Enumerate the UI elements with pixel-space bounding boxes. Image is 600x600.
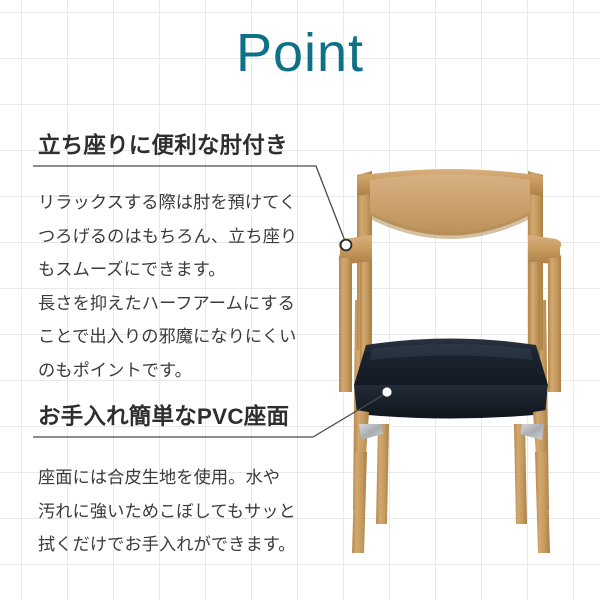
callout-marker-ring: [341, 240, 352, 251]
callout-leader-pvc-seat: [33, 387, 392, 437]
infographic-page: Point 立ち座りに便利な肘付き リラックスする際は肘を預けてく つろげるのは…: [0, 0, 600, 600]
callout-marker-dot: [382, 387, 391, 396]
callout-leader-armrest: [33, 166, 351, 250]
callout-leader-lines: [0, 0, 600, 600]
